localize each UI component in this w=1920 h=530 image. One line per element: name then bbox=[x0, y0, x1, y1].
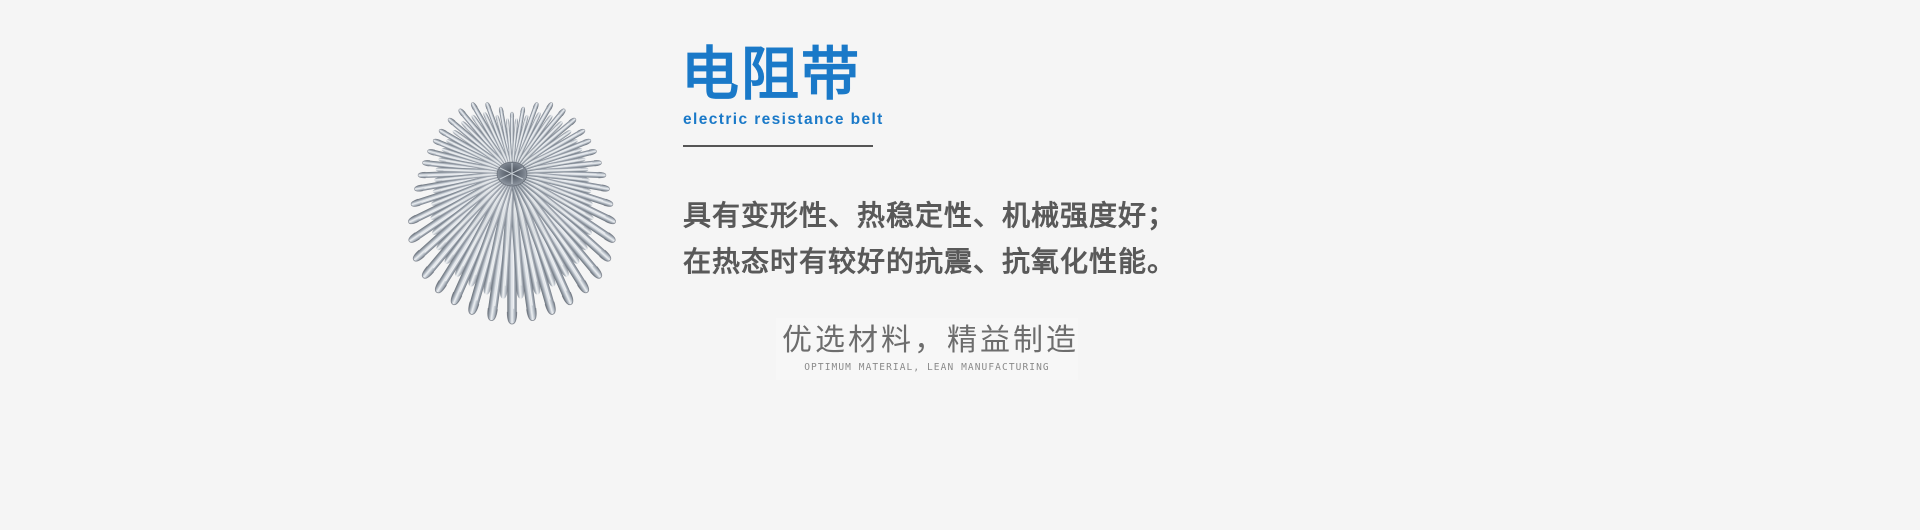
description-line-1: 具有变形性、热稳定性、机械强度好； bbox=[683, 193, 1381, 239]
title-divider bbox=[683, 145, 873, 147]
slogan-english: OPTIMUM MATERIAL, LEAN MANUFACTURING bbox=[782, 361, 1072, 374]
page-subtitle-english: electric resistance belt bbox=[683, 111, 1381, 129]
product-banner: 电阻带 electric resistance belt 具有变形性、热稳定性、… bbox=[0, 0, 1920, 530]
resistance-belt-illustration bbox=[332, 54, 692, 374]
slogan-block: 优选材料，精益制造 OPTIMUM MATERIAL, LEAN MANUFAC… bbox=[776, 318, 1078, 380]
slogan-chinese: 优选材料，精益制造 bbox=[782, 322, 1072, 360]
content-column: 电阻带 electric resistance belt 具有变形性、热稳定性、… bbox=[681, 44, 1381, 484]
binding-hub bbox=[497, 162, 527, 186]
product-image bbox=[332, 54, 692, 374]
page-title: 电阻带 bbox=[681, 44, 1381, 105]
product-description: 具有变形性、热稳定性、机械强度好； 在热态时有较好的抗震、抗氧化性能。 bbox=[683, 193, 1381, 285]
description-line-2: 在热态时有较好的抗震、抗氧化性能。 bbox=[683, 239, 1381, 285]
